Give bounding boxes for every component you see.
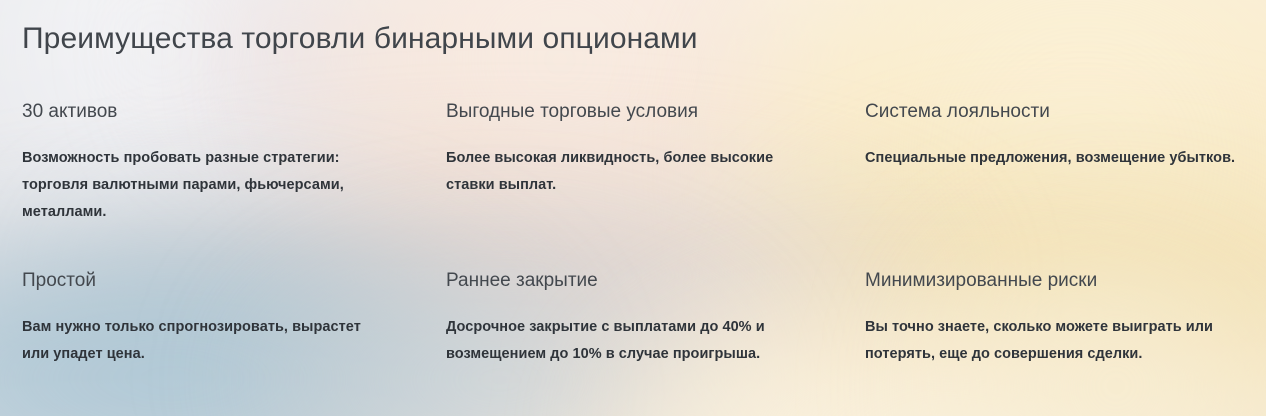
benefits-row-bottom: Простой Вам нужно только спрогнозировать… bbox=[0, 269, 1266, 416]
benefit-title: Простой bbox=[22, 269, 387, 293]
benefit-card-simple: Простой Вам нужно только спрогнозировать… bbox=[0, 269, 423, 416]
benefit-card-early-close: Раннее закрытие Досрочное закрытие с вып… bbox=[423, 269, 843, 416]
benefit-title: Раннее закрытие bbox=[446, 269, 803, 293]
benefit-title: Минимизированные риски bbox=[865, 269, 1236, 293]
benefit-body: Вам нужно только спрогнозировать, выраст… bbox=[22, 314, 387, 368]
benefit-card-assets: 30 активов Возможность пробовать разные … bbox=[0, 100, 423, 269]
page-title: Преимущества торговли бинарными опционам… bbox=[22, 22, 698, 56]
benefits-section: Преимущества торговли бинарными опционам… bbox=[0, 0, 1266, 416]
benefit-body: Возможность пробовать разные стратегии: … bbox=[22, 145, 387, 226]
benefit-card-loyalty-system: Система лояльности Специальные предложен… bbox=[843, 100, 1266, 269]
benefit-body: Специальные предложения, возмещение убыт… bbox=[865, 145, 1236, 172]
benefit-body: Более высокая ликвидность, более высокие… bbox=[446, 145, 803, 199]
benefit-card-trading-conditions: Выгодные торговые условия Более высокая … bbox=[423, 100, 843, 269]
benefit-card-minimized-risks: Минимизированные риски Вы точно знаете, … bbox=[843, 269, 1266, 416]
benefit-body: Вы точно знаете, сколько можете выиграть… bbox=[865, 314, 1236, 368]
benefit-title: Система лояльности bbox=[865, 100, 1236, 124]
benefits-grid: 30 активов Возможность пробовать разные … bbox=[0, 100, 1266, 416]
benefit-title: 30 активов bbox=[22, 100, 387, 124]
benefits-row-top: 30 активов Возможность пробовать разные … bbox=[0, 100, 1266, 269]
benefit-body: Досрочное закрытие с выплатами до 40% и … bbox=[446, 314, 803, 368]
benefit-title: Выгодные торговые условия bbox=[446, 100, 803, 124]
